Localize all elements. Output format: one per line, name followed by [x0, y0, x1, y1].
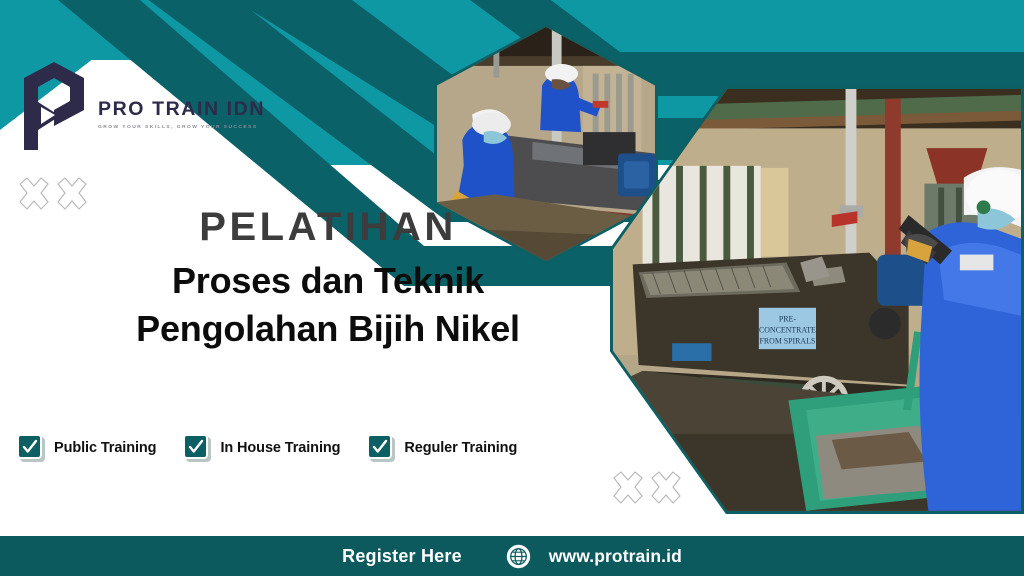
training-option-label: Reguler Training	[404, 440, 517, 456]
hexagon-photo-pre-concentrate: PRE- CONCENTRATE FROM SPIRALS	[610, 86, 1024, 514]
checkbox-checked-icon[interactable]	[17, 434, 45, 462]
page-title-kicker: PELATIHAN	[108, 206, 548, 248]
protrain-arrow-logo-icon	[14, 60, 92, 152]
training-option-label: In House Training	[220, 440, 340, 456]
globe-icon	[506, 544, 531, 569]
training-option-label: Public Training	[54, 440, 156, 456]
svg-text:FROM SPIRALS: FROM SPIRALS	[760, 336, 816, 345]
promo-banner: PRO TRAIN IDN GROW YOUR SKILLS, GROW YOU…	[0, 0, 1024, 576]
training-options-list: Public Training In House Training	[17, 434, 544, 462]
register-here-label[interactable]: Register Here	[342, 546, 462, 567]
check-mark-icon	[187, 438, 205, 456]
x-pattern-decoration-top	[14, 176, 92, 224]
footer-bar: Register Here www.protrain.id	[0, 536, 1024, 576]
x-pattern-decoration-bottom	[608, 470, 686, 518]
page-title-line2: Pengolahan Bijih Nikel	[108, 305, 548, 353]
check-mark-icon	[21, 438, 39, 456]
page-title-line1: Proses dan Teknik	[108, 257, 548, 305]
photo-scene-large: PRE- CONCENTRATE FROM SPIRALS	[613, 89, 1021, 511]
svg-text:CONCENTRATE: CONCENTRATE	[759, 325, 816, 334]
headline-block: PELATIHAN Proses dan Teknik Pengolahan B…	[108, 206, 548, 353]
check-mark-icon	[371, 438, 389, 456]
training-option-reguler[interactable]: Reguler Training	[367, 434, 517, 462]
website-url[interactable]: www.protrain.id	[549, 546, 682, 567]
page-title: Proses dan Teknik Pengolahan Bijih Nikel	[108, 257, 548, 353]
logo-brand-name: PRO TRAIN IDN	[98, 100, 238, 120]
training-option-in-house[interactable]: In House Training	[183, 434, 340, 462]
checkbox-checked-icon[interactable]	[367, 434, 395, 462]
training-option-public[interactable]: Public Training	[17, 434, 156, 462]
logo-tagline: GROW YOUR SKILLS, GROW YOUR SUCCESS	[98, 125, 238, 130]
brand-logo: PRO TRAIN IDN GROW YOUR SKILLS, GROW YOU…	[14, 60, 234, 165]
svg-text:PRE-: PRE-	[779, 315, 796, 324]
checkbox-checked-icon[interactable]	[183, 434, 211, 462]
